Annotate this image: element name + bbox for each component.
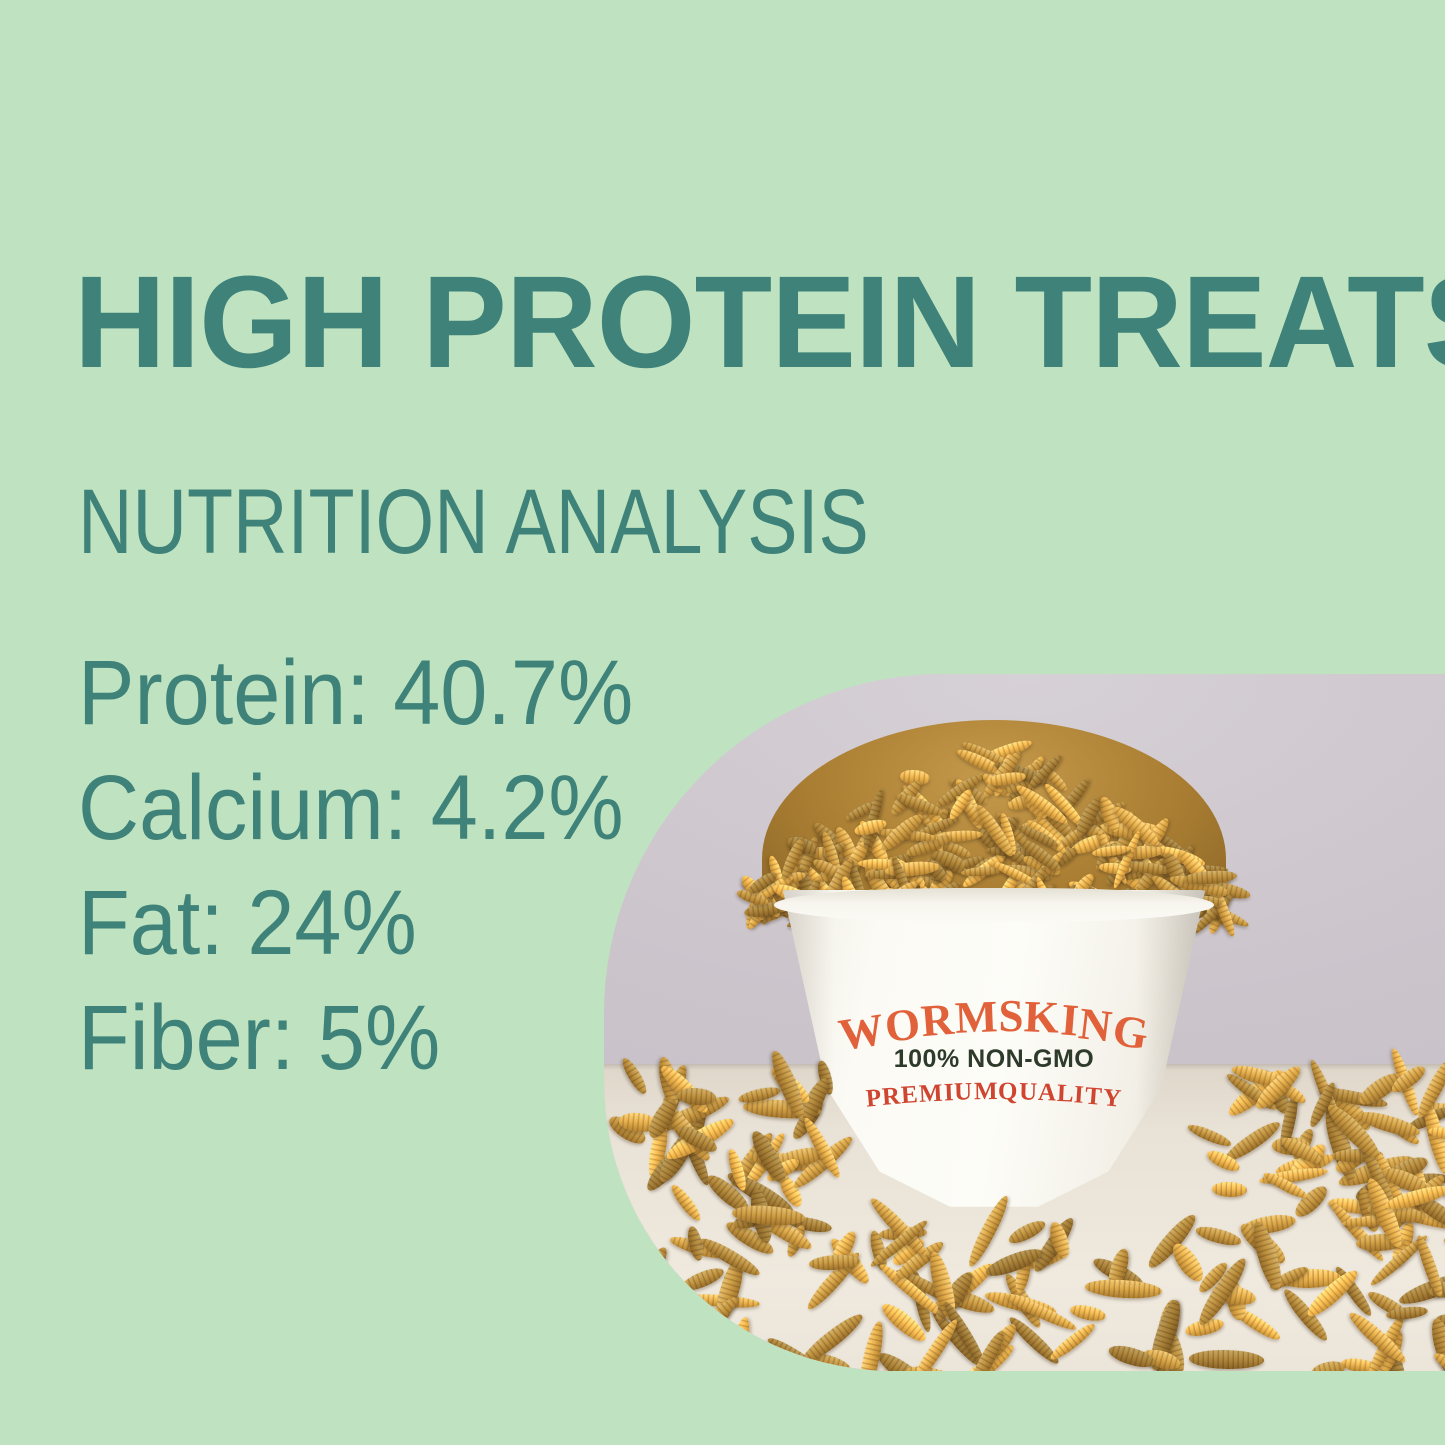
- larva: [1006, 1217, 1049, 1248]
- larva: [608, 1219, 650, 1243]
- larva: [607, 1297, 645, 1333]
- larva: [1167, 1239, 1208, 1286]
- list-item: Fiber: 5%: [78, 981, 667, 1096]
- nutrition-fact-fiber: Fiber: 5%: [78, 987, 440, 1089]
- larva: [1309, 1358, 1346, 1371]
- section-subtitle: NUTRITION ANALYSIS: [78, 476, 869, 568]
- larva: [1189, 1350, 1264, 1370]
- larva: [1211, 1182, 1246, 1198]
- larva: [1194, 1224, 1243, 1250]
- list-item: Protein: 40.7%: [78, 636, 667, 751]
- scattered-larvae: [604, 674, 1445, 1371]
- page-title: HIGH PROTEIN TREATS: [74, 256, 1445, 387]
- product-photo: WORMSKING 100% NON-GMO PREMIUM QUALITY: [604, 674, 1445, 1371]
- larva: [1085, 1278, 1163, 1301]
- nutrition-fact-protein: Protein: 40.7%: [78, 642, 633, 744]
- list-item: Calcium: 4.2%: [78, 751, 667, 866]
- list-item: Fat: 24%: [78, 866, 667, 981]
- nutrition-fact-fat: Fat: 24%: [78, 872, 417, 974]
- larva: [1107, 1341, 1158, 1371]
- larva: [1185, 1121, 1233, 1150]
- larva: [668, 1182, 705, 1225]
- nutrition-fact-calcium: Calcium: 4.2%: [78, 757, 624, 859]
- larva: [619, 1055, 650, 1096]
- product-infographic: HIGH PROTEIN TREATS NUTRITION ANALYSIS P…: [0, 0, 1445, 1445]
- larva: [1069, 1302, 1107, 1323]
